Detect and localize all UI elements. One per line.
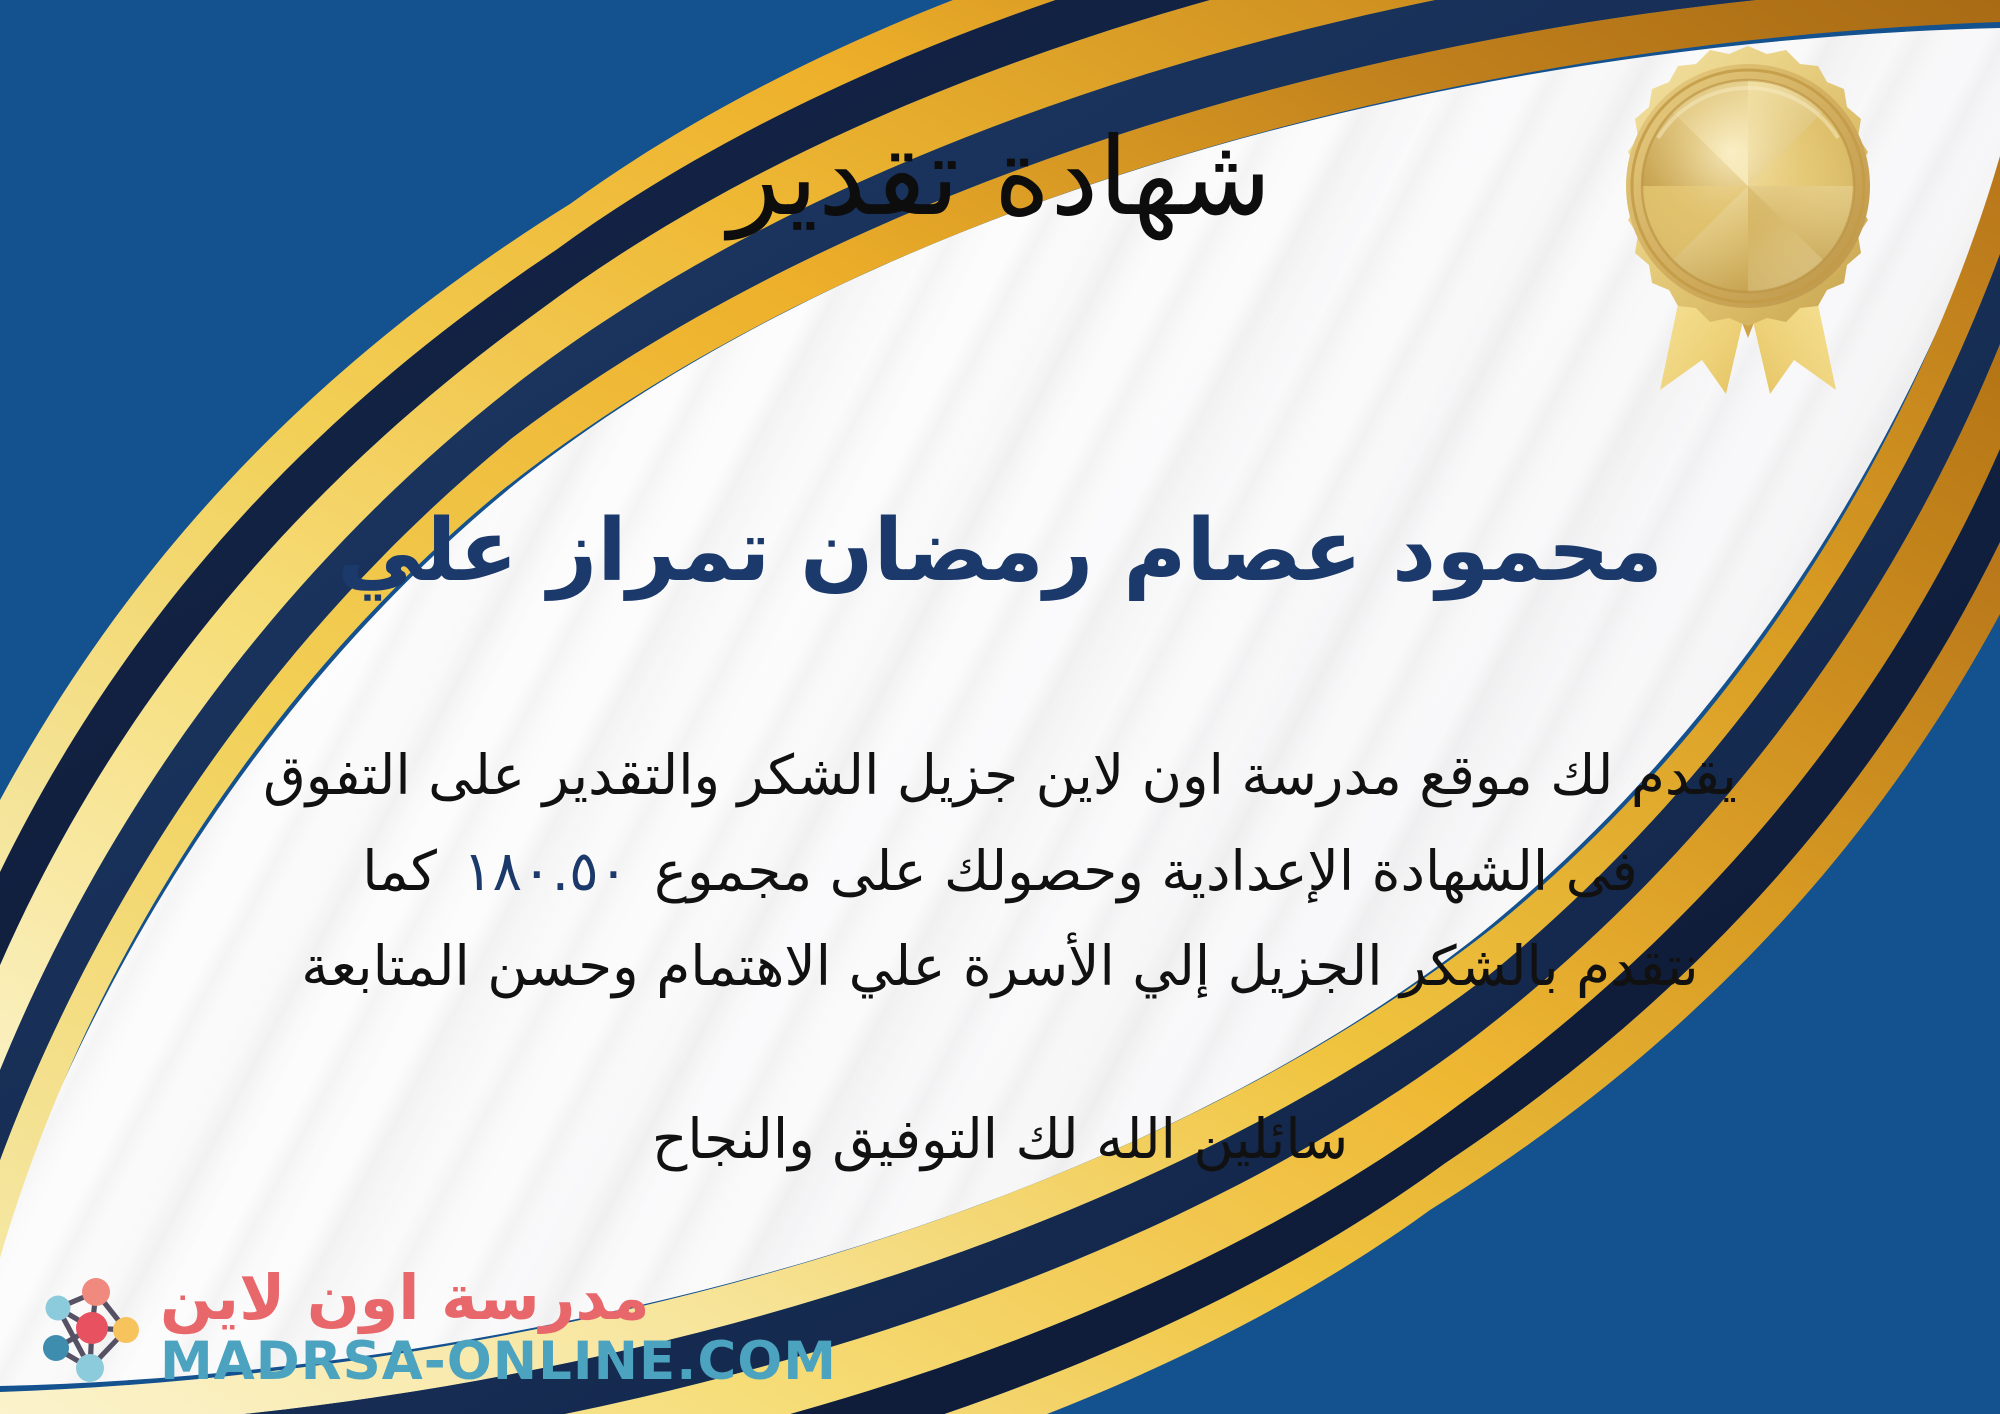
body-line-1: يقدم لك موقع مدرسة اون لاين جزيل الشكر و… bbox=[60, 728, 1940, 824]
body-line-2-suffix: كما bbox=[362, 839, 437, 903]
recipient-name: محمود عصام رمضان تمراز علي bbox=[0, 498, 2000, 606]
body-line-2-prefix: فى الشهادة الإعدادية وحصولك على مجموع bbox=[654, 839, 1638, 903]
body-line-3: نتقدم بالشكر الجزيل إلي الأسرة علي الاهت… bbox=[60, 919, 1940, 1015]
score-value: ١٨٠.٥٠ bbox=[437, 839, 654, 903]
certificate-canvas: شهادة تقدير محمود عصام رمضان تمراز علي ي… bbox=[0, 0, 2000, 1414]
certificate-content: شهادة تقدير محمود عصام رمضان تمراز علي ي… bbox=[0, 0, 2000, 1414]
logo-url: MADRSA-ONLINE.COM bbox=[160, 1335, 837, 1388]
body-line-2: فى الشهادة الإعدادية وحصولك على مجموع١٨٠… bbox=[60, 824, 1940, 920]
closing-wish: سائلين الله لك التوفيق والنجاح bbox=[0, 1098, 2000, 1181]
logo-wordmark: مدرسة اون لاين MADRSA-ONLINE.COM bbox=[160, 1267, 837, 1388]
certificate-body: يقدم لك موقع مدرسة اون لاين جزيل الشكر و… bbox=[60, 728, 1940, 1015]
page-title: شهادة تقدير bbox=[0, 118, 2000, 239]
logo-arabic-name: مدرسة اون لاين bbox=[160, 1267, 650, 1329]
network-nodes-icon bbox=[34, 1268, 146, 1388]
site-logo[interactable]: مدرسة اون لاين MADRSA-ONLINE.COM bbox=[34, 1267, 837, 1388]
